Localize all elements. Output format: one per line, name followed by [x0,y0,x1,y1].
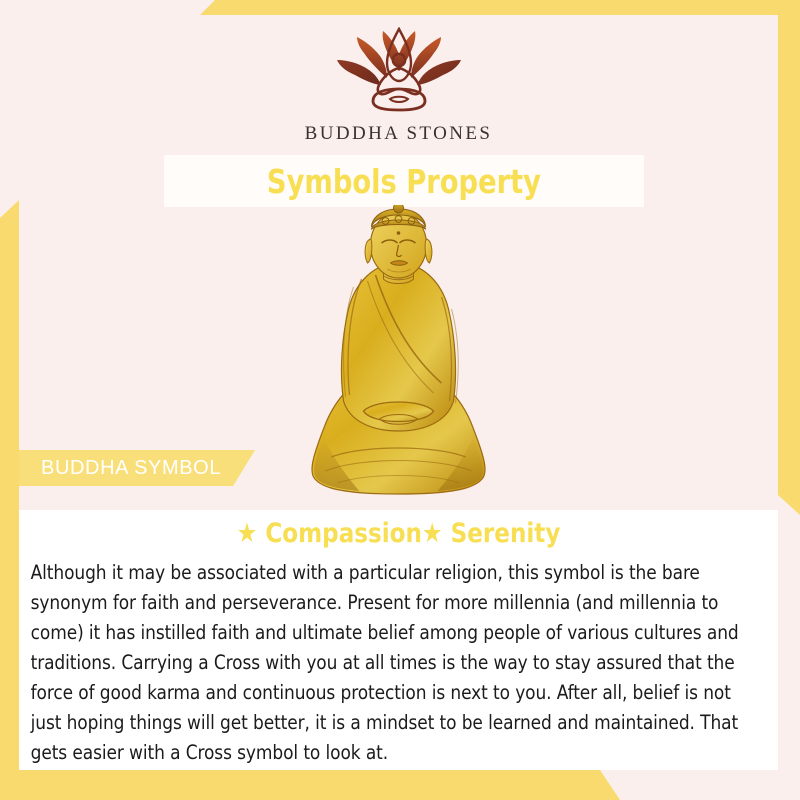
decor-bar-top [0,0,800,15]
content-panel: ★ Compassion★ Serenity Although it may b… [19,510,778,770]
brand-name: BUDDHA STONES [305,123,493,145]
content-paragraph: Although it may be associated with a par… [19,558,755,768]
decor-bar-bottom [0,770,800,800]
hero-section: BUDDHA STONES Symbols Property [19,15,778,510]
brand-logo: BUDDHA STONES [19,27,778,145]
lotus-meditation-icon [329,27,469,119]
page-title: Symbols Property [267,162,541,201]
poster-root: BUDDHA STONES Symbols Property [0,0,800,800]
buddha-symbol-tag-label: BUDDHA SYMBOL [41,457,221,480]
decor-bar-left [0,200,19,800]
decor-bar-right [778,0,800,515]
page-title-band: Symbols Property [164,155,644,207]
content-headline: ★ Compassion★ Serenity [38,518,759,549]
buddha-symbol-tag: BUDDHA SYMBOL [19,450,255,486]
golden-seated-buddha-statue-icon [301,205,496,495]
